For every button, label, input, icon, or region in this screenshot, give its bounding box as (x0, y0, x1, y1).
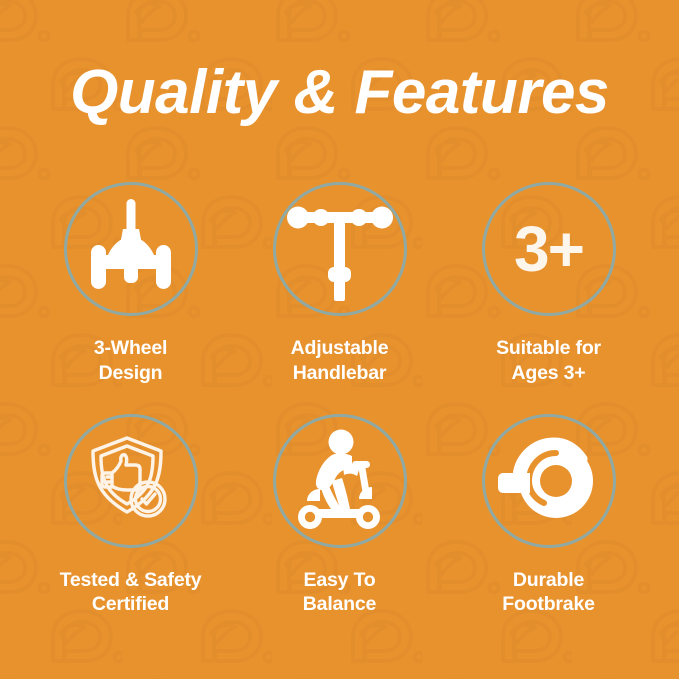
feature-label: Durable Footbrake (502, 568, 594, 618)
page-title: Quality & Features (0, 62, 679, 124)
icon-ring (273, 414, 407, 548)
feature-label: 3-Wheel Design (94, 336, 167, 386)
age-3-plus-icon: 3+ (514, 217, 583, 281)
adjustable-handlebar-icon (284, 193, 396, 305)
wheel-footbrake-icon (496, 433, 602, 529)
feature-label: Tested & Safety Certified (60, 568, 202, 618)
rider-on-scooter-icon (286, 429, 394, 533)
feature-item-tested-safety-certified: Tested & Safety Certified (26, 414, 235, 618)
icon-ring (64, 182, 198, 316)
feature-item-easy-to-balance: Easy To Balance (235, 414, 444, 618)
icon-ring: 3+ (482, 182, 616, 316)
feature-poster: Quality & Features (0, 0, 679, 679)
feature-item-durable-footbrake: Durable Footbrake (444, 414, 653, 618)
feature-label: Easy To Balance (303, 568, 376, 618)
safety-shield-thumbsup-icon (81, 431, 181, 531)
feature-grid: 3-Wheel Design (26, 182, 653, 617)
icon-ring (482, 414, 616, 548)
icon-ring (64, 414, 198, 548)
feature-item-adjustable-handlebar: Adjustable Handlebar (235, 182, 444, 386)
three-wheel-scooter-icon (79, 197, 183, 301)
feature-label: Suitable for Ages 3+ (496, 336, 601, 386)
feature-item-ages-3-plus: 3+ Suitable for Ages 3+ (444, 182, 653, 386)
feature-item-3-wheel-design: 3-Wheel Design (26, 182, 235, 386)
icon-ring (273, 182, 407, 316)
feature-label: Adjustable Handlebar (291, 336, 389, 386)
